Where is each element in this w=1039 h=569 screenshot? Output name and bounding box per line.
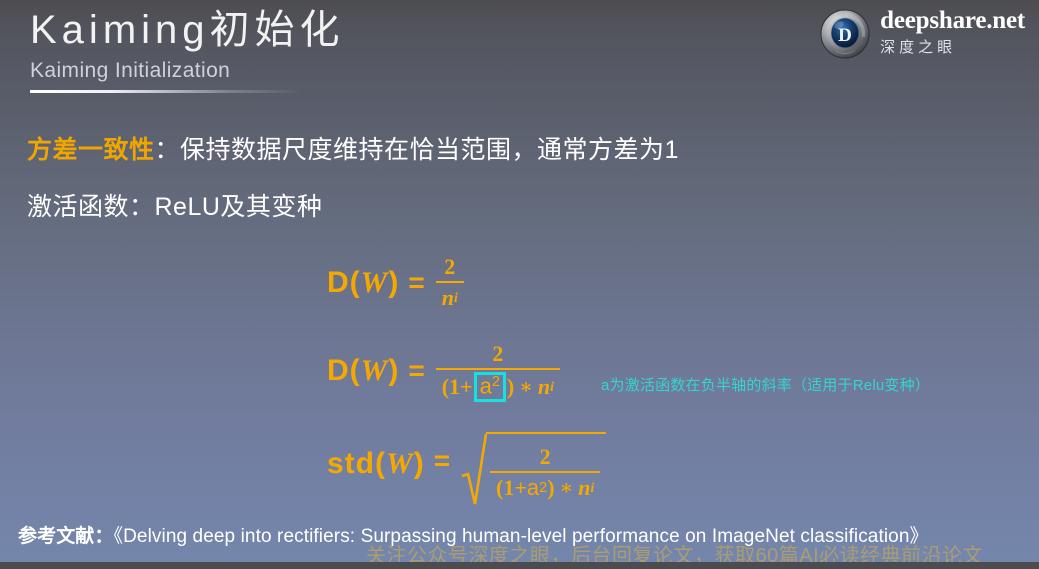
- formula-3-den-n: n: [578, 475, 590, 501]
- formula-variance-with-a: D(W) = 2 (1+a2)∗ni: [327, 341, 560, 402]
- slide-canvas: Kaiming初始化 Kaiming Initialization: [0, 0, 1039, 569]
- formula-3-fn: std: [327, 447, 375, 480]
- bullet-activation-function: 激活函数：ReLU及其变种: [27, 187, 322, 223]
- formula-2-numerator: 2: [486, 341, 509, 368]
- formula-2-a: a: [480, 374, 492, 399]
- formula-2-den-close: ): [507, 374, 514, 400]
- formula-3-a-exponent: 2: [539, 480, 547, 496]
- formula-3-den-open: (1+: [496, 475, 527, 501]
- formula-2-den-times: ∗: [514, 374, 538, 399]
- formula-2-denominator: (1+a2)∗ni: [436, 370, 560, 402]
- formula-1-lhs: D(W): [327, 266, 399, 300]
- formula-3-den-times: ∗: [555, 475, 579, 500]
- formula-3-arg: W: [386, 447, 414, 480]
- formula-variance-basic: D(W) = 2 ni: [327, 254, 464, 311]
- formula-3-fraction: 2 (1+a2)∗ni: [490, 444, 600, 501]
- page-subtitle: Kaiming Initialization: [30, 56, 730, 86]
- formula-3-sqrt: 2 (1+a2)∗ni: [461, 432, 606, 506]
- formula-1-arg: W: [361, 266, 389, 299]
- formula-2-a-exponent: 2: [492, 374, 500, 390]
- formula-3-numerator: 2: [534, 444, 557, 471]
- formula-2-lhs: D(W): [327, 354, 399, 388]
- formula-1-den-sub: i: [454, 290, 458, 306]
- formula-3-a: a: [527, 475, 539, 501]
- reference-label: 参考文献：: [18, 526, 114, 547]
- formula-1-fn: D: [327, 266, 350, 299]
- title-block: Kaiming初始化 Kaiming Initialization: [30, 2, 730, 93]
- formula-2-arg: W: [361, 354, 389, 387]
- formula-3-equals: =: [434, 432, 450, 477]
- formula-1-equals: =: [408, 267, 424, 299]
- formula-2-equals: =: [408, 355, 424, 387]
- bottom-bar-decoration: [0, 562, 1039, 569]
- deepshare-eye-logo-icon: D: [820, 9, 870, 59]
- brand-logo: D deepshare.net 深度之眼: [820, 8, 1025, 59]
- logo-tagline: 深度之眼: [880, 37, 1025, 59]
- logo-brand-name: deepshare.net: [880, 8, 1025, 34]
- formula-1-den-n: n: [442, 285, 454, 311]
- bullet-1-highlight: 方差一致性: [27, 136, 155, 164]
- annotation-a-meaning: a为激活函数在负半轴的斜率（适用于Relu变种）: [601, 374, 930, 395]
- formula-3-den-close: ): [547, 475, 554, 501]
- formula-3-den-n-sub: i: [591, 480, 595, 496]
- bullet-variance-consistency: 方差一致性：保持数据尺度维持在恰当范围，通常方差为1: [27, 130, 679, 166]
- formula-3-denominator: (1+a2)∗ni: [490, 473, 600, 501]
- formula-2-den-open: (1+: [442, 374, 473, 400]
- formula-3-lhs: std(W): [327, 432, 425, 481]
- formula-2-fraction: 2 (1+a2)∗ni: [436, 341, 560, 402]
- formula-std-with-a: std(W) = 2 (1+a2)∗ni: [327, 432, 606, 506]
- formula-1-numerator: 2: [438, 254, 461, 281]
- title-underline-decoration: [30, 90, 302, 93]
- formula-2-den-n: n: [538, 374, 550, 400]
- formula-3-radicand: 2 (1+a2)∗ni: [486, 432, 606, 506]
- bullet-1-rest: ：保持数据尺度维持在恰当范围，通常方差为1: [155, 136, 679, 164]
- formula-2-fn: D: [327, 354, 350, 387]
- formula-1-fraction: 2 ni: [436, 254, 464, 311]
- highlighted-a-squared-box: a2: [474, 372, 506, 402]
- square-root-icon: [461, 432, 487, 506]
- formula-2-den-n-sub: i: [550, 379, 554, 395]
- formula-1-denominator: ni: [436, 283, 464, 311]
- page-title: Kaiming初始化: [30, 2, 730, 58]
- logo-text-block: deepshare.net 深度之眼: [880, 8, 1025, 59]
